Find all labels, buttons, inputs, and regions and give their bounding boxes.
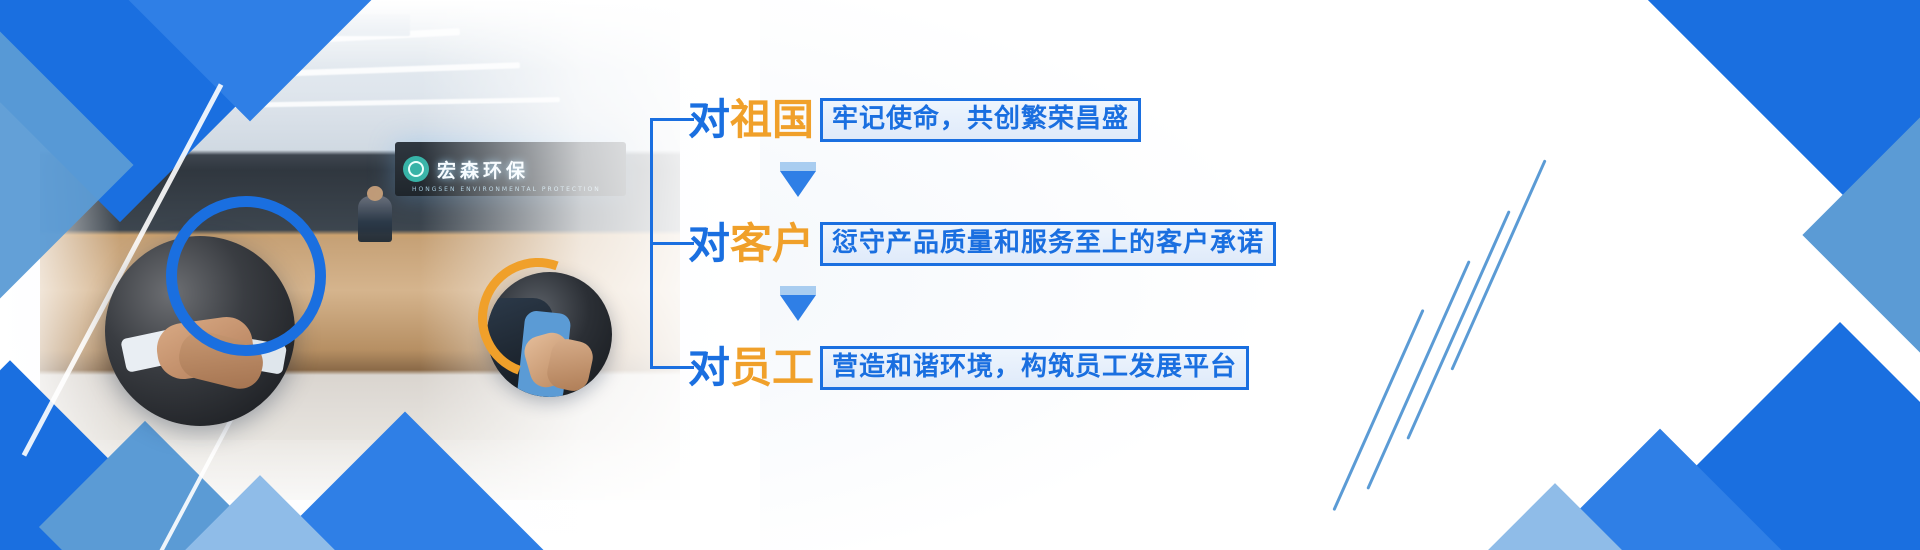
statement-prefix: 对 — [688, 343, 730, 392]
statement-subject: 员工 — [730, 343, 814, 392]
culture-statement-list: 对祖国 牢记使命，共创繁荣昌盛 对客户 愆守产品质量和服务至上的客户承诺 对员工… — [650, 70, 1390, 400]
arrow-triangle — [780, 295, 816, 321]
statement-subject: 祖国 — [730, 95, 814, 144]
arrow-cap — [780, 286, 816, 295]
receptionist-figure — [358, 196, 392, 242]
handshake-bubble-ring — [166, 196, 326, 356]
statement-quote-country: 牢记使命，共创繁荣昌盛 — [820, 98, 1141, 142]
company-culture-banner: 宏森环保 HONGSEN ENVIRONMENTAL PROTECTION — [0, 0, 1920, 550]
statement-row-customer: 对客户 愆守产品质量和服务至上的客户承诺 — [688, 216, 1276, 272]
statement-prefix: 对 — [688, 95, 730, 144]
statement-row-country: 对祖国 牢记使命，共创繁荣昌盛 — [688, 92, 1141, 148]
arrow-triangle — [780, 171, 816, 197]
statement-label-employee: 对员工 — [688, 347, 814, 389]
arrow-cap — [780, 162, 816, 171]
statement-row-employee: 对员工 营造和谐环境，构筑员工发展平台 — [688, 340, 1249, 396]
statement-prefix: 对 — [688, 219, 730, 268]
statement-quote-employee: 营造和谐环境，构筑员工发展平台 — [820, 346, 1249, 390]
statement-label-country: 对祖国 — [688, 99, 814, 141]
statement-quote-customer: 愆守产品质量和服务至上的客户承诺 — [820, 222, 1276, 266]
statement-label-customer: 对客户 — [688, 223, 814, 265]
statement-subject: 客户 — [730, 219, 814, 268]
